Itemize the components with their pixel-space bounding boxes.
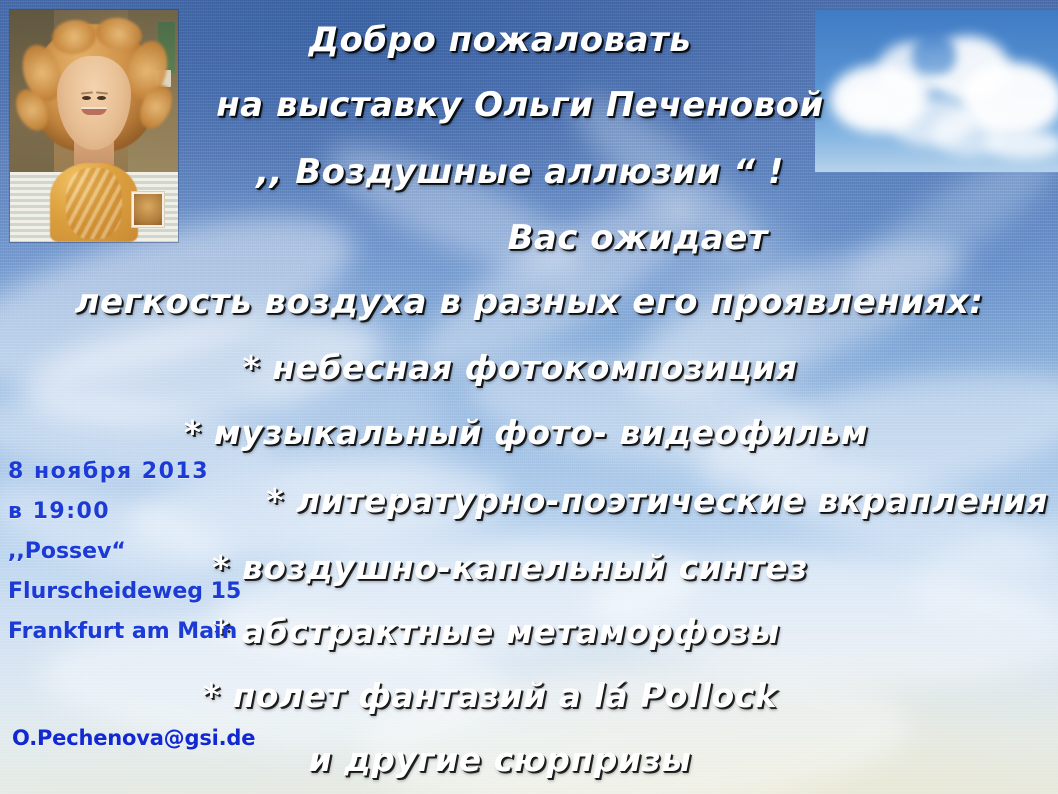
heart-shaped-cloud-photo [815,10,1058,172]
artist-portrait-photo [10,10,178,242]
invitation-poster: Добро пожаловать на выставку Ольги Печен… [0,0,1058,794]
